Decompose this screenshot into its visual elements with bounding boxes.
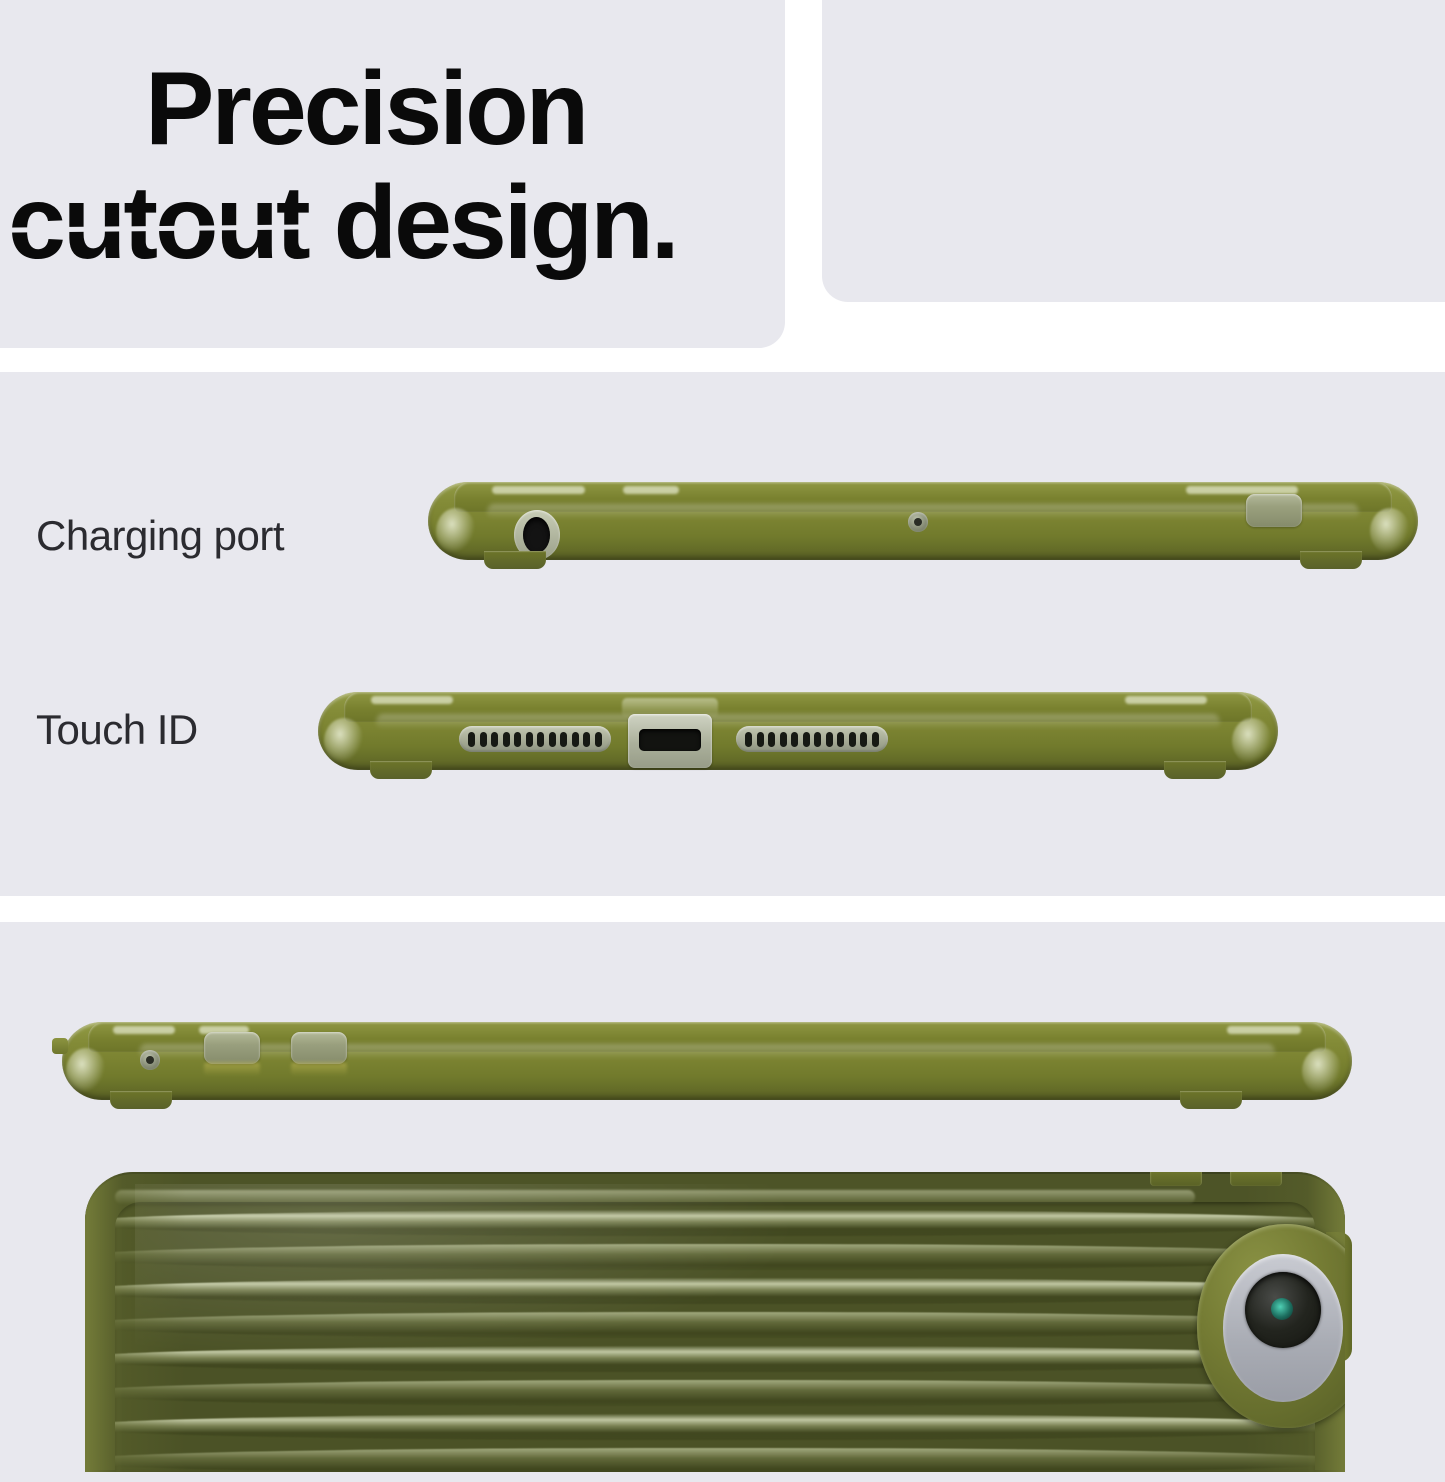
marketing-image-root: Precision cutout design. Precise cutouts…	[0, 0, 1445, 1445]
device-body-shell	[428, 482, 1418, 560]
device-foot-right	[1300, 551, 1362, 569]
wave-line	[115, 1448, 1315, 1472]
device-back-lip	[344, 692, 1252, 722]
device-top-edge-view	[428, 468, 1418, 574]
device-back-lip	[88, 1022, 1326, 1052]
subtext-panel: Precise cutouts enable easy accessibilit…	[822, 0, 1445, 302]
label-touch-id: Touch ID	[36, 706, 198, 754]
device-foot-right	[1164, 761, 1226, 779]
label-charging-port: Charging port	[36, 512, 284, 560]
volume-up-button	[204, 1032, 260, 1064]
lip-glint	[1125, 696, 1207, 704]
speaker-grille-left	[459, 726, 611, 752]
wave-line	[115, 1244, 1315, 1270]
heading-line-2-rest: design.	[308, 165, 677, 281]
lip-glint	[1227, 1026, 1301, 1034]
cutout-word-with-slice: cutout	[8, 166, 308, 280]
case-button-volume-down	[1230, 1172, 1282, 1186]
wave-line	[115, 1346, 1315, 1372]
heading-panel: Precision cutout design.	[0, 0, 785, 348]
camera-lens-icon	[1245, 1272, 1321, 1348]
case-top-highlight	[115, 1190, 1195, 1204]
ports-panel	[0, 372, 1445, 896]
power-button	[1246, 494, 1302, 527]
button-shadow	[291, 1062, 347, 1076]
device-foot-left	[370, 761, 432, 779]
corner-gloss-left	[324, 718, 364, 764]
device-foot-right	[1180, 1091, 1242, 1109]
case-back-view	[85, 1172, 1345, 1472]
button-shadow	[204, 1062, 260, 1076]
lip-glint	[492, 486, 586, 494]
corner-gloss-left	[66, 1048, 106, 1094]
microphone-hole-icon	[908, 512, 928, 532]
wave-line	[115, 1380, 1315, 1406]
wave-line	[115, 1414, 1315, 1440]
charging-port-cutout	[628, 714, 712, 768]
corner-gloss-right	[1370, 508, 1410, 554]
cutout-word-text: cutout	[8, 165, 308, 281]
device-side-edge-view	[62, 1008, 1352, 1106]
lip-glint	[113, 1026, 175, 1034]
device-body-shell	[62, 1022, 1352, 1100]
device-body-shell	[318, 692, 1278, 770]
corner-gloss-right	[1232, 718, 1272, 764]
case-button-volume-up	[1150, 1172, 1202, 1186]
device-bottom-edge-view	[318, 678, 1278, 782]
heading-line-1: Precision	[145, 52, 785, 166]
device-foot-left	[484, 551, 546, 569]
lanyard-nub	[52, 1038, 68, 1054]
speaker-grille-right	[736, 726, 888, 752]
lip-glint	[623, 486, 679, 494]
lip-glint	[371, 696, 453, 704]
lip-glint	[1186, 486, 1299, 494]
microphone-hole-icon	[140, 1050, 160, 1070]
corner-gloss-left	[436, 508, 476, 554]
wave-line	[115, 1312, 1315, 1338]
heading-line-2: cutout design.	[8, 166, 785, 280]
volume-down-button	[291, 1032, 347, 1064]
case-wave-texture	[115, 1202, 1315, 1472]
corner-gloss-right	[1302, 1048, 1342, 1094]
page-title: Precision cutout design.	[145, 52, 785, 281]
device-foot-left	[110, 1091, 172, 1109]
wave-line	[115, 1278, 1315, 1304]
wave-line	[115, 1210, 1315, 1236]
